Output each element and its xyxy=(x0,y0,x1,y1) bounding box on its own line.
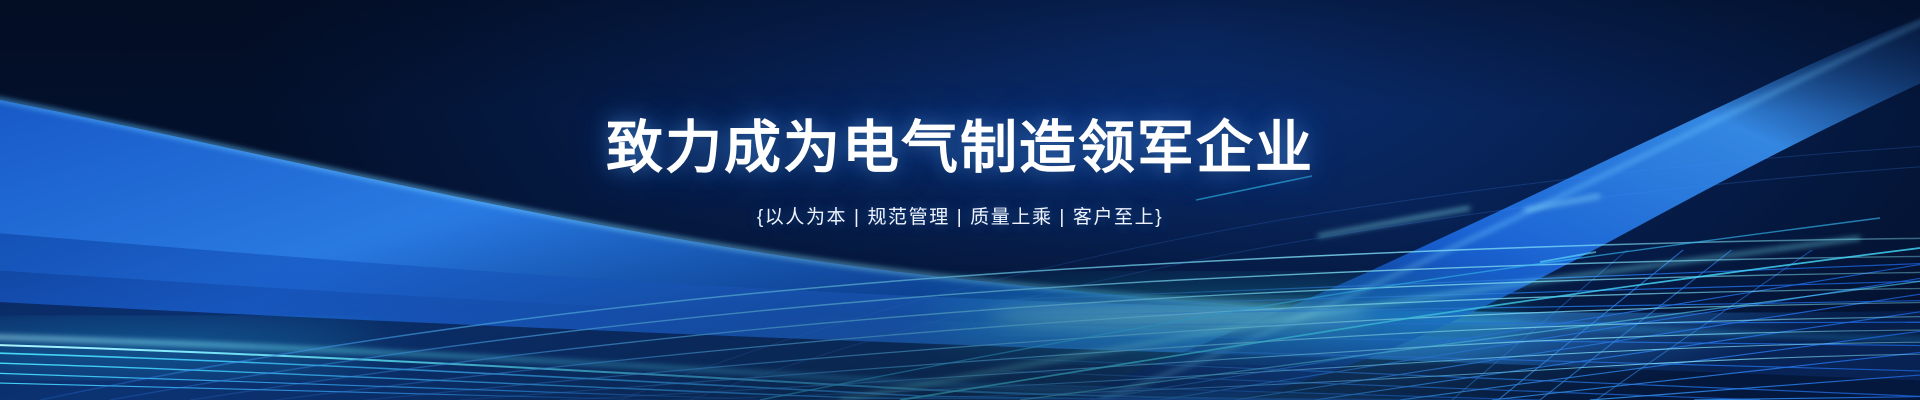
hero-text-block: 致力成为电气制造领军企业 {以人为本 | 规范管理 | 质量上乘 | 客户至上} xyxy=(0,118,1920,229)
hero-banner: 致力成为电气制造领军企业 {以人为本 | 规范管理 | 质量上乘 | 客户至上} xyxy=(0,0,1920,400)
page-title: 致力成为电气制造领军企业 xyxy=(0,118,1920,180)
page-subtitle: {以人为本 | 规范管理 | 质量上乘 | 客户至上} xyxy=(0,202,1920,229)
